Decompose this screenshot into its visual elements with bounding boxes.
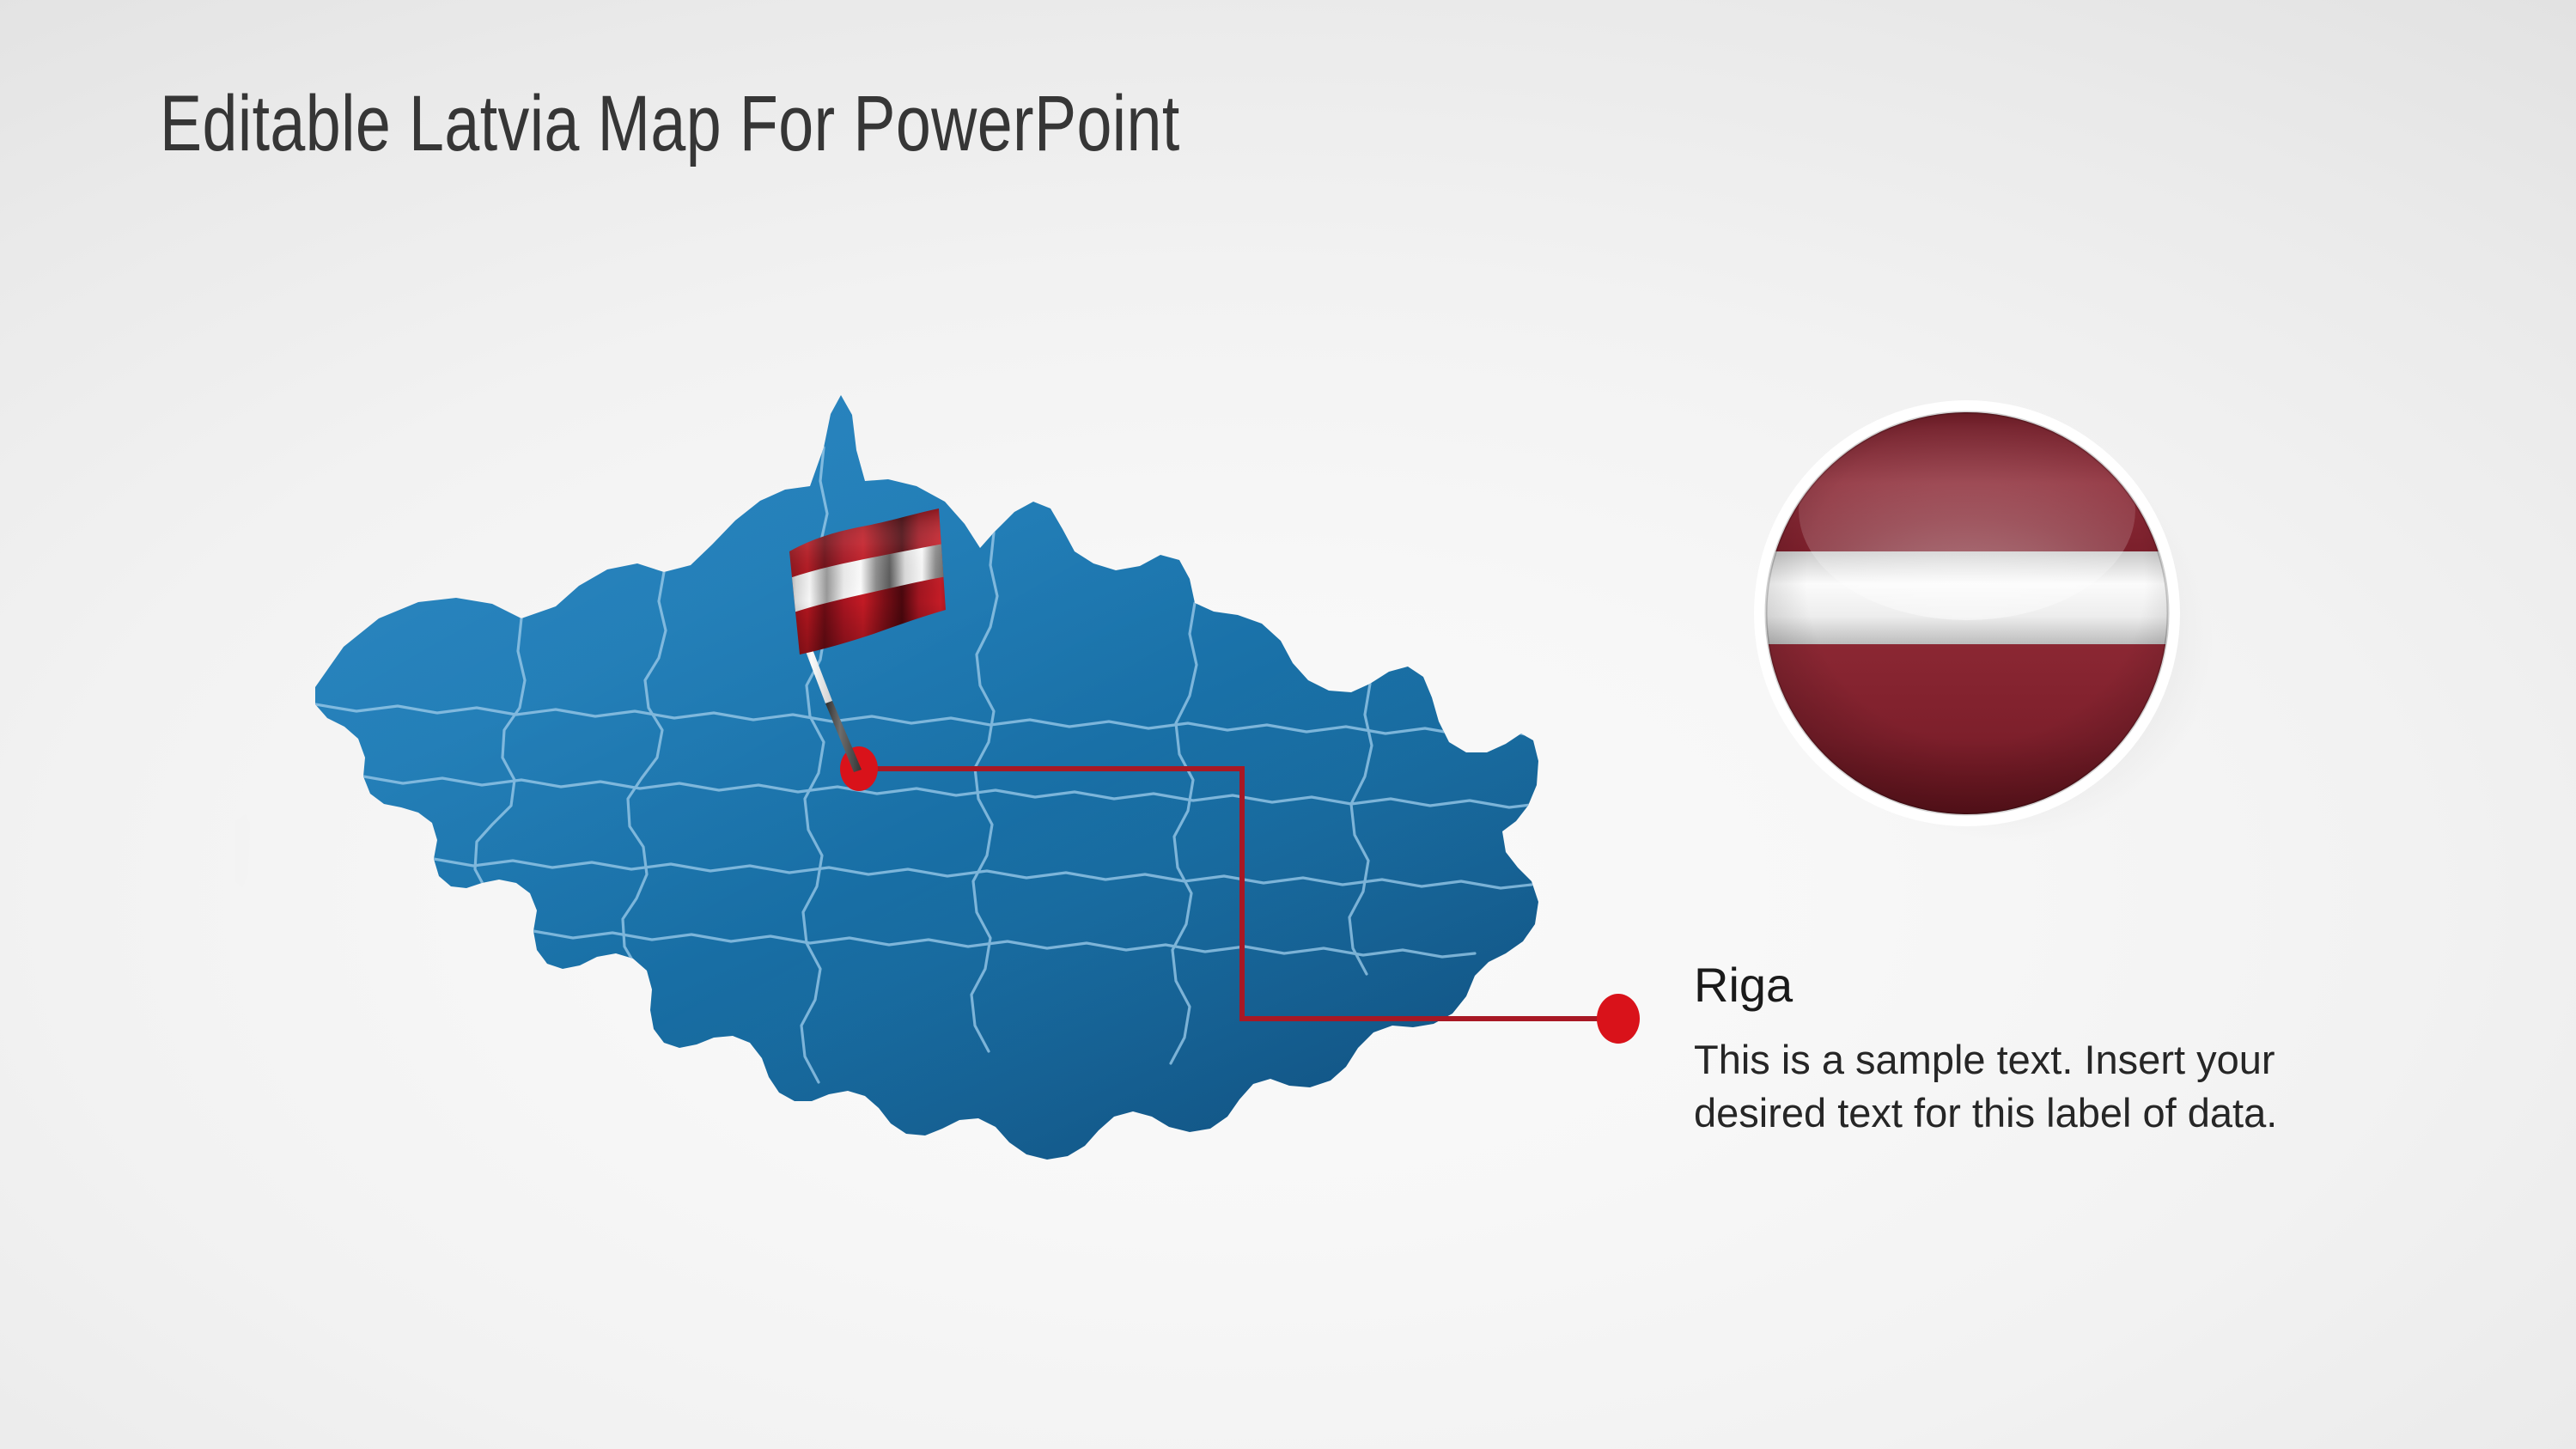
latvia-flag-badge[interactable] [1749,400,2202,830]
riga-label-title: Riga [1694,960,2347,1011]
latvia-flag-pin[interactable] [777,507,992,782]
badge-gloss [1799,400,2135,620]
riga-label-block: Riga This is a sample text. Insert your … [1694,960,2347,1141]
flag-pole [800,634,862,772]
riga-label-body: This is a sample text. Insert your desir… [1694,1033,2304,1141]
map-coastal-inlet [235,814,250,888]
page-title: Editable Latvia Map For PowerPoint [160,79,1180,169]
slide-canvas: Editable Latvia Map For PowerPoint [0,0,2576,1449]
